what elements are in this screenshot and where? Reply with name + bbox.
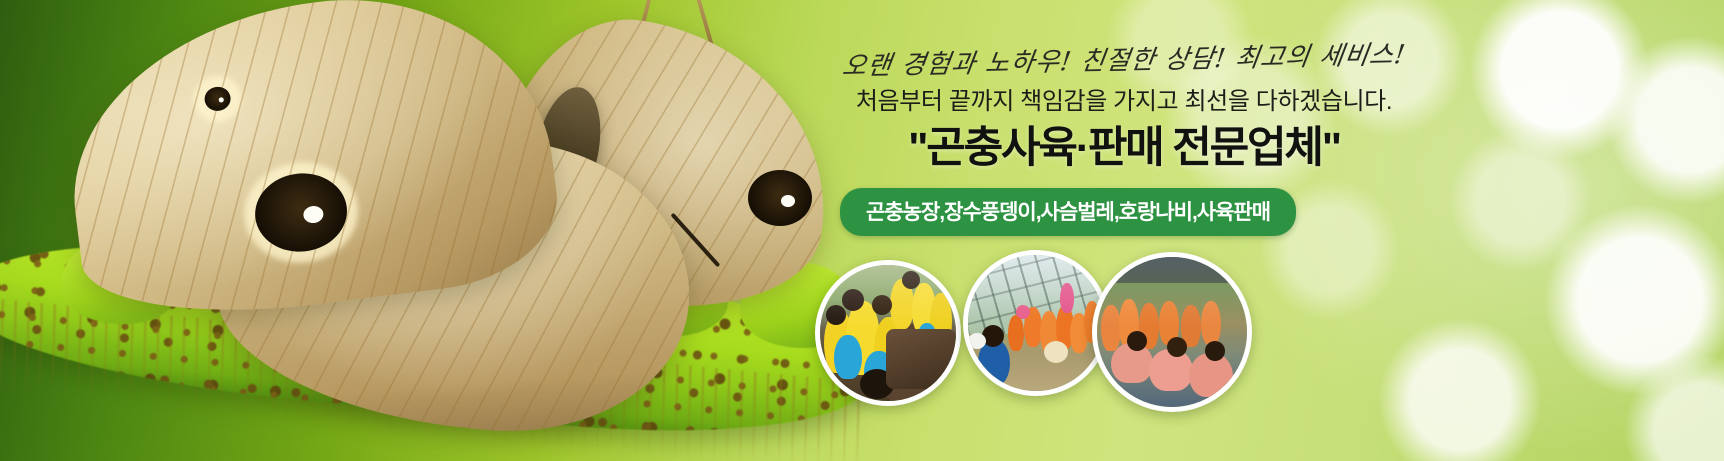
photo-thumbnails	[815, 246, 1255, 406]
subtitle-line: 처음부터 끝까지 책임감을 가지고 최선을 다하겠습니다.	[804, 88, 1444, 117]
butterfly	[30, 0, 820, 406]
promo-banner: 오랜 경험과 노하우! 친절한 상담! 최고의 세비스! 처음부터 끝까지 책임…	[0, 0, 1724, 461]
thumbnail-pond-observation[interactable]	[1092, 252, 1252, 412]
handwriting-tagline: 오랜 경험과 노하우! 친절한 상담! 최고의 세비스!	[802, 41, 1445, 80]
thumbnail-image	[1097, 257, 1247, 407]
thumbnail-greenhouse[interactable]	[963, 250, 1109, 396]
butterfly-eyespot-right	[748, 170, 812, 226]
thumbnail-image	[820, 265, 956, 401]
thumbnail-image	[968, 255, 1104, 391]
thumbnail-kids-soil-box[interactable]	[815, 260, 961, 406]
butterfly-photo	[0, 0, 900, 461]
headline: "곤충사육·판매 전문업체"	[804, 126, 1444, 171]
keyword-pill: 곤충농장,장수풍뎅이,사슴벌레,호랑나비,사육판매	[840, 188, 1296, 236]
